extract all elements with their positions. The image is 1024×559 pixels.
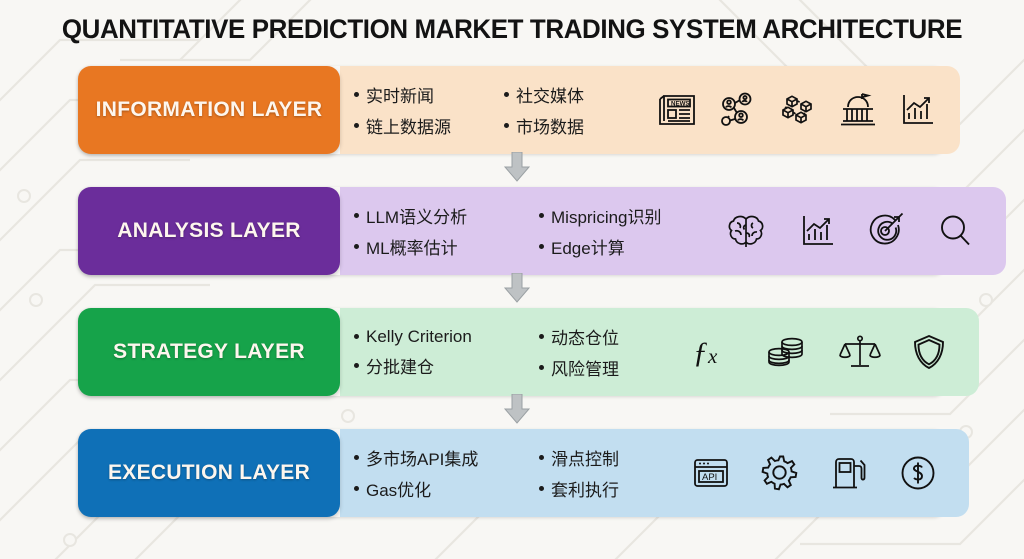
connector-arrow-1 [503, 152, 531, 182]
list-item: 链上数据源 [354, 113, 504, 138]
bullet-text: 社交媒体 [516, 82, 584, 107]
bullet-dot-icon [354, 244, 359, 249]
bullet-dot-icon [354, 123, 359, 128]
bullet-group-right: 动态仓位 风险管理 [539, 324, 689, 380]
layer-execution[interactable]: EXECUTION LAYER 多市场API集成 Gas优化 滑点控制 套利执行… [78, 429, 946, 517]
target-dart-icon [864, 211, 908, 251]
bullet-dot-icon [354, 92, 359, 97]
bullet-dot-icon [504, 92, 509, 97]
gas-pump-icon [827, 453, 871, 493]
list-item: Gas优化 [354, 476, 539, 501]
coin-stack-icon [763, 332, 811, 372]
social-network-icon [714, 90, 758, 130]
list-item: Kelly Criterion [354, 327, 539, 347]
layer-body-analysis: LLM语义分析 ML概率估计 Mispricing识别 Edge计算 [340, 187, 1006, 275]
bullet-dot-icon [539, 365, 544, 370]
svg-text:x: x [707, 344, 718, 368]
list-item: 市场数据 [504, 113, 654, 138]
list-item: Mispricing识别 [539, 203, 724, 228]
api-window-icon: API [689, 453, 733, 493]
layer-body-execution: 多市场API集成 Gas优化 滑点控制 套利执行 API [340, 429, 969, 517]
bullet-text: 实时新闻 [366, 82, 434, 107]
bullet-group-right: 滑点控制 套利执行 [539, 445, 689, 501]
svg-text:NEWS: NEWS [671, 101, 690, 108]
list-item: 动态仓位 [539, 324, 689, 349]
layer-label-execution: EXECUTION LAYER [78, 429, 340, 517]
layer-label-analysis: ANALYSIS LAYER [78, 187, 340, 275]
bar-chart-icon [896, 90, 938, 130]
list-item: 套利执行 [539, 476, 689, 501]
blockchain-icon [774, 90, 820, 130]
bullet-text: 动态仓位 [551, 324, 619, 349]
gear-icon [759, 452, 801, 494]
bullet-text: 链上数据源 [366, 113, 451, 138]
bullet-text: 分批建仓 [366, 353, 434, 378]
bullet-dot-icon [539, 334, 544, 339]
icon-group-strategy: ƒ x [689, 331, 949, 373]
layer-analysis[interactable]: ANALYSIS LAYER LLM语义分析 ML概率估计 Mispricing… [78, 187, 946, 275]
bullet-group-left: 实时新闻 链上数据源 [354, 82, 504, 138]
list-item: 实时新闻 [354, 82, 504, 107]
layer-label-strategy: STRATEGY LAYER [78, 308, 340, 396]
newspaper-icon: NEWS [654, 90, 698, 130]
list-item: 分批建仓 [354, 353, 539, 378]
list-item: 社交媒体 [504, 82, 654, 107]
balance-scale-icon [837, 332, 883, 372]
layer-strategy[interactable]: STRATEGY LAYER Kelly Criterion 分批建仓 动态仓位… [78, 308, 946, 396]
bullet-dot-icon [539, 213, 544, 218]
bullet-text: 套利执行 [551, 476, 619, 501]
icon-group-execution: API [689, 452, 939, 494]
page-title: QUANTITATIVE PREDICTION MARKET TRADING S… [20, 14, 1003, 45]
bullet-text: Gas优化 [366, 476, 431, 501]
bullet-dot-icon [354, 486, 359, 491]
bullet-group-right: Mispricing识别 Edge计算 [539, 203, 724, 259]
list-item: 滑点控制 [539, 445, 689, 470]
bullet-group-left: Kelly Criterion 分批建仓 [354, 327, 539, 378]
list-item: 多市场API集成 [354, 445, 539, 470]
brain-icon [724, 211, 770, 251]
bullet-text: ML概率估计 [366, 234, 458, 259]
svg-text:API: API [702, 472, 717, 483]
bullet-group-right: 社交媒体 市场数据 [504, 82, 654, 138]
layer-body-strategy: Kelly Criterion 分批建仓 动态仓位 风险管理 ƒ x [340, 308, 979, 396]
architecture-diagram: QUANTITATIVE PREDICTION MARKET TRADING S… [0, 0, 1024, 559]
bullet-dot-icon [539, 455, 544, 460]
bullet-text: Kelly Criterion [366, 327, 472, 347]
bar-chart-trend-icon [796, 211, 838, 251]
dollar-circle-icon [897, 452, 939, 494]
connector-arrow-3 [503, 394, 531, 424]
institution-icon [836, 90, 880, 130]
layer-label-information: INFORMATION LAYER [78, 66, 340, 154]
bullet-dot-icon [539, 244, 544, 249]
bullet-text: 市场数据 [516, 113, 584, 138]
bullet-text: LLM语义分析 [366, 203, 467, 228]
bullet-text: 多市场API集成 [366, 445, 478, 470]
shield-icon [909, 332, 949, 372]
list-item: ML概率估计 [354, 234, 539, 259]
icon-group-information: NEWS [654, 90, 938, 130]
connector-arrow-2 [503, 273, 531, 303]
bullet-dot-icon [354, 334, 359, 339]
layer-body-information: 实时新闻 链上数据源 社交媒体 市场数据 NEWS [340, 66, 960, 154]
svg-text:ƒ: ƒ [693, 336, 708, 369]
bullet-text: 滑点控制 [551, 445, 619, 470]
list-item: 风险管理 [539, 355, 689, 380]
bullet-text: Edge计算 [551, 234, 625, 259]
bullet-text: 风险管理 [551, 355, 619, 380]
bullet-dot-icon [539, 486, 544, 491]
magnifier-icon [934, 211, 976, 251]
fx-formula-icon: ƒ x [689, 331, 737, 373]
bullet-text: Mispricing识别 [551, 203, 662, 228]
bullet-group-left: LLM语义分析 ML概率估计 [354, 203, 539, 259]
bullet-group-left: 多市场API集成 Gas优化 [354, 445, 539, 501]
bullet-dot-icon [354, 363, 359, 368]
icon-group-analysis [724, 211, 976, 251]
bullet-dot-icon [354, 455, 359, 460]
bullet-dot-icon [354, 213, 359, 218]
bullet-dot-icon [504, 123, 509, 128]
list-item: Edge计算 [539, 234, 724, 259]
list-item: LLM语义分析 [354, 203, 539, 228]
layer-information[interactable]: INFORMATION LAYER 实时新闻 链上数据源 社交媒体 市场数据 N… [78, 66, 946, 154]
